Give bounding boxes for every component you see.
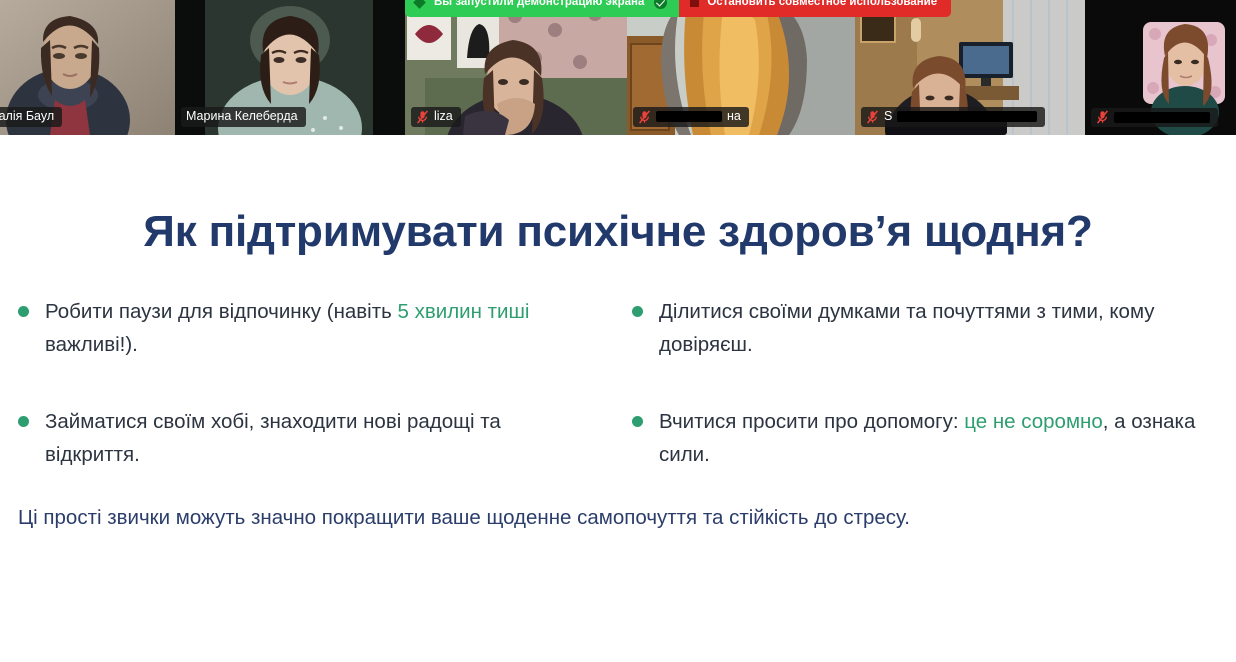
microphone-muted-icon (1096, 110, 1109, 124)
bullet-text: Займатися своїм хобі, знаходити нові рад… (45, 405, 598, 471)
sharing-status-label: Вы запустили демонстрацию экрана (434, 0, 644, 8)
slide-bullet-columns: Робити паузи для відпочинку (навіть 5 хв… (0, 295, 1236, 515)
video-tile-5[interactable]: S (855, 0, 1085, 135)
participant-name-2: Марина Келеберда (186, 109, 298, 124)
sharing-status-bar: Вы запустили демонстрацию экрана (405, 0, 679, 17)
bullet-item: Займатися своїм хобі, знаходити нові рад… (18, 405, 598, 471)
plain-phrase: Ділитися своїми думками та почуттями з т… (659, 300, 1155, 356)
bullet-item: Робити паузи для відпочинку (навіть 5 хв… (18, 295, 598, 361)
stop-share-button[interactable]: Остановить совместное использование (679, 0, 951, 17)
plain-phrase: важливі!). (45, 333, 138, 356)
bullet-text: Вчитися просити про допомогу: це не соро… (659, 405, 1216, 471)
participant-nameplate-6 (1091, 108, 1218, 127)
plain-phrase: Вчитися просити про допомогу: (659, 410, 964, 433)
highlighted-phrase: це не соромно (964, 410, 1103, 433)
stop-square-icon (690, 0, 699, 7)
bullet-column-right: Ділитися своїми думками та почуттями з т… (618, 295, 1236, 515)
participant-name-1: талія Баул (0, 109, 54, 124)
bullet-dot-icon (18, 416, 29, 427)
video-tile-1[interactable]: талія Баул (0, 0, 175, 135)
participant-name-5: S (884, 109, 892, 124)
microphone-muted-icon (866, 110, 879, 124)
bullet-text: Ділитися своїми думками та почуттями з т… (659, 295, 1216, 361)
bullet-dot-icon (632, 306, 643, 317)
participant-name-4: на (727, 109, 741, 124)
diamond-icon (413, 0, 426, 8)
plain-phrase: Робити паузи для відпочинку (навіть (45, 300, 398, 323)
slide-summary-text: Ці прості звички можуть значно покращити… (18, 503, 1218, 533)
bullet-dot-icon (632, 416, 643, 427)
stop-share-label: Остановить совместное использование (707, 0, 937, 8)
shared-slide: Як підтримувати психічне здоров’я щодня?… (0, 135, 1236, 662)
bullet-column-left: Робити паузи для відпочинку (навіть 5 хв… (0, 295, 618, 515)
bullet-dot-icon (18, 306, 29, 317)
plain-phrase: Займатися своїм хобі, знаходити нові рад… (45, 410, 501, 466)
check-circle-icon (654, 0, 667, 9)
participant-nameplate-4: на (633, 107, 749, 127)
video-tile-4-active-speaker[interactable]: на (627, 0, 855, 135)
bullet-text: Робити паузи для відпочинку (навіть 5 хв… (45, 295, 598, 361)
redacted-name-6 (1114, 112, 1210, 123)
participant-name-3: liza (434, 109, 453, 124)
video-tile-2[interactable]: Марина Келеберда (175, 0, 405, 135)
video-tile-3[interactable]: liza (405, 0, 627, 135)
participant-nameplate-3: liza (411, 107, 461, 127)
redacted-name-5 (897, 111, 1037, 122)
video-tile-6[interactable] (1085, 0, 1236, 135)
participant-nameplate-1: талія Баул (0, 107, 62, 127)
participant-nameplate-2: Марина Келеберда (181, 107, 306, 127)
redacted-name-4 (656, 111, 722, 122)
microphone-muted-icon (416, 110, 429, 124)
bullet-item: Ділитися своїми думками та почуттями з т… (632, 295, 1216, 361)
bullet-item: Вчитися просити про допомогу: це не соро… (632, 405, 1216, 471)
screen-share-banner: Вы запустили демонстрацию экрана Останов… (405, 0, 951, 17)
participant-nameplate-5: S (861, 107, 1045, 127)
slide-title: Як підтримувати психічне здоров’я щодня? (0, 207, 1236, 257)
microphone-muted-icon (638, 110, 651, 124)
highlighted-phrase: 5 хвилин тиші (398, 300, 530, 323)
video-tile-strip: талія Баул Марина Келеберда (0, 0, 1236, 135)
